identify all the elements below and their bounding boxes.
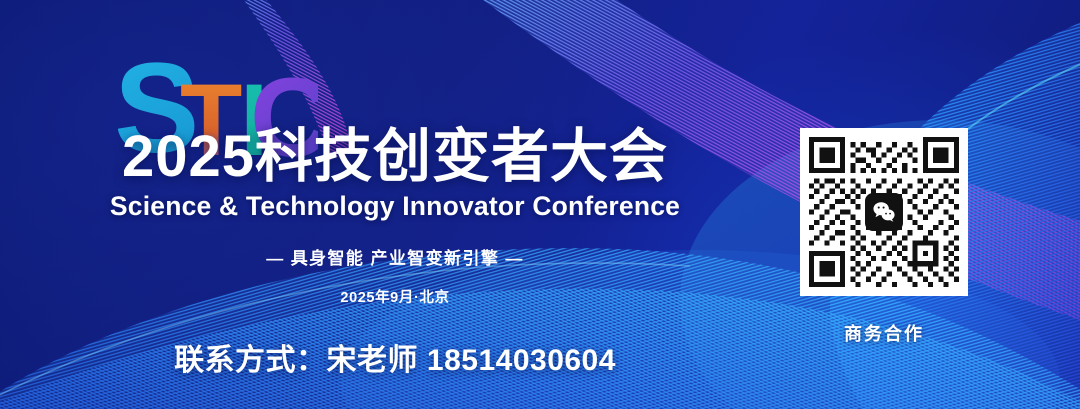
wechat-icon (865, 193, 903, 231)
qr-caption: 商务合作 (800, 320, 968, 346)
conference-banner: S T I C 2025科技创变者大会 Science & Technology… (0, 0, 1080, 409)
contact-info: 联系方式：宋老师 18514030604 (0, 335, 790, 379)
conference-title-en: Science & Technology Innovator Conferenc… (0, 191, 790, 222)
conference-date-location: 2025年9月·北京 (0, 286, 790, 307)
qr-code[interactable] (800, 128, 968, 296)
conference-title-cn: 2025科技创变者大会 (0, 126, 790, 187)
qr-panel: 商务合作 (800, 128, 968, 346)
headline-block: 2025科技创变者大会 Science & Technology Innovat… (0, 126, 790, 379)
conference-tagline: — 具身智能 产业智变新引擎 — (0, 244, 790, 269)
